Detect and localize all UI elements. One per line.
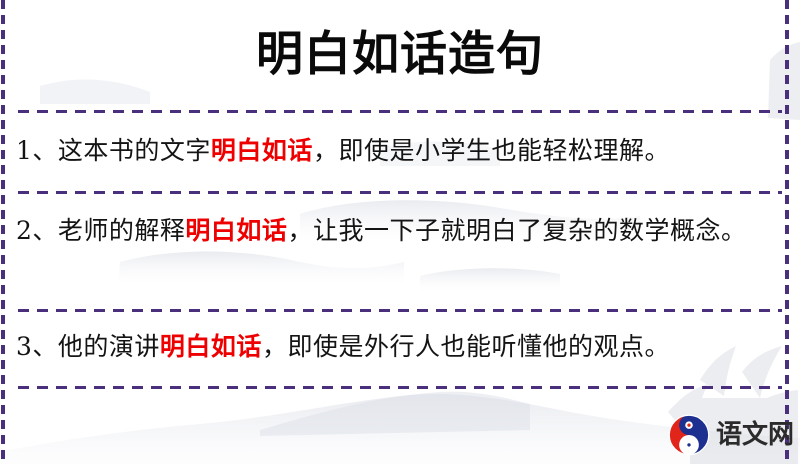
right-dashed-border — [785, 0, 789, 464]
site-logo-text: 语文网 — [716, 414, 794, 456]
sentence-2-before: 老师的解释 — [58, 216, 186, 245]
example-sentence-3: 3、他的演讲明白如话，即使是外行人也能听懂他的观点。 — [16, 324, 768, 370]
sentence-2-index: 2、 — [16, 216, 58, 245]
sentence-2-after: ，让我一下子就明白了复杂的数学概念。 — [287, 216, 746, 245]
sentence-1-after: ，即使是小学生也能轻松理解。 — [313, 136, 670, 165]
sentence-3-keyword: 明白如话 — [160, 332, 262, 361]
separator-below-title — [18, 110, 782, 113]
example-sentence-2: 2、老师的解释明白如话，让我一下子就明白了复杂的数学概念。 — [16, 208, 768, 254]
yin-yang-circle-icon — [668, 414, 710, 456]
left-dashed-border — [1, 0, 5, 464]
separator-after-sentence-3 — [18, 386, 782, 389]
example-sentence-1: 1、这本书的文字明白如话，即使是小学生也能轻松理解。 — [16, 128, 768, 174]
sentence-3-before: 他的演讲 — [58, 332, 160, 361]
page-title: 明白如话造句 — [0, 26, 800, 84]
sentence-3-after: ，即使是外行人也能听懂他的观点。 — [262, 332, 670, 361]
worksheet-page: 明白如话造句 1、这本书的文字明白如话，即使是小学生也能轻松理解。 2、老师的解… — [0, 0, 800, 464]
sentence-1-before: 这本书的文字 — [58, 136, 211, 165]
sentence-2-keyword: 明白如话 — [185, 216, 287, 245]
separator-after-sentence-2 — [18, 309, 782, 312]
separator-after-sentence-1 — [18, 191, 782, 194]
site-logo[interactable]: 语文网 — [668, 412, 788, 458]
sentence-1-index: 1、 — [16, 136, 58, 165]
sentence-3-index: 3、 — [16, 332, 58, 361]
sentence-1-keyword: 明白如话 — [211, 136, 313, 165]
